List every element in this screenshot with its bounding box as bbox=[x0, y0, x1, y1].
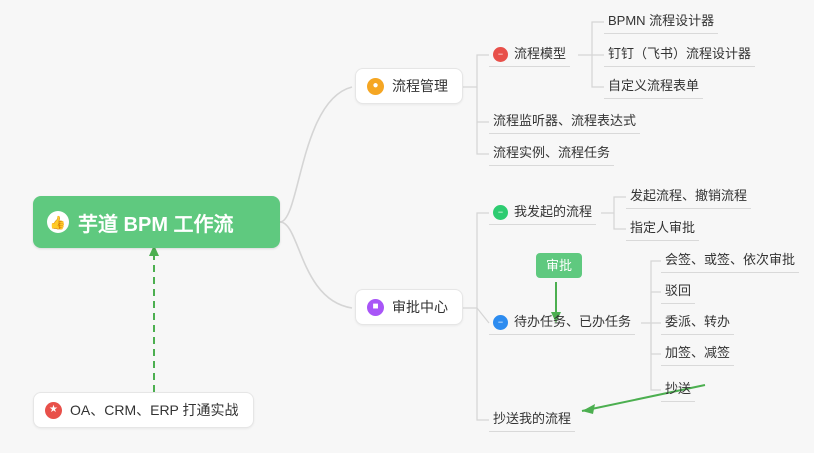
node-custom-form[interactable]: 自定义流程表单 bbox=[604, 78, 703, 99]
node-label: 加签、减签 bbox=[665, 345, 730, 361]
mindmap-canvas: 👍 芋道 BPM 工作流 ● 流程管理 − 流程模型 流程监听器、流程表达式 流… bbox=[0, 0, 814, 453]
node-add-remove-sign[interactable]: 加签、减签 bbox=[661, 345, 734, 366]
node-delegate-transfer[interactable]: 委派、转办 bbox=[661, 314, 734, 335]
node-label: 自定义流程表单 bbox=[608, 78, 699, 94]
node-label: 流程监听器、流程表达式 bbox=[493, 113, 636, 129]
node-label: 会签、或签、依次审批 bbox=[665, 252, 795, 268]
node-process-listener[interactable]: 流程监听器、流程表达式 bbox=[489, 113, 640, 134]
annotation-label: 审批 bbox=[546, 258, 572, 273]
minus-circle-icon: − bbox=[493, 47, 508, 62]
branch-node-approval-center[interactable]: ■ 审批中心 bbox=[355, 289, 463, 325]
node-label: 我发起的流程 bbox=[514, 204, 592, 220]
node-label: 驳回 bbox=[665, 283, 691, 299]
root-node[interactable]: 👍 芋道 BPM 工作流 bbox=[33, 196, 280, 248]
branch-label: 审批中心 bbox=[392, 297, 448, 317]
node-cc-to-me[interactable]: 抄送我的流程 bbox=[489, 411, 575, 432]
node-label: 钉钉（飞书）流程设计器 bbox=[608, 46, 751, 62]
node-todo-done-tasks[interactable]: − 待办任务、已办任务 bbox=[489, 314, 635, 335]
node-label: BPMN 流程设计器 bbox=[608, 13, 714, 29]
node-process-instance[interactable]: 流程实例、流程任务 bbox=[489, 145, 614, 166]
minus-circle-icon: − bbox=[493, 315, 508, 330]
node-process-model[interactable]: − 流程模型 bbox=[489, 46, 570, 67]
message-square-icon: ■ bbox=[367, 299, 384, 316]
thumbs-up-icon: 👍 bbox=[47, 211, 69, 233]
branch-node-process-management[interactable]: ● 流程管理 bbox=[355, 68, 463, 104]
node-label: 流程模型 bbox=[514, 46, 566, 62]
annotation-label: OA、CRM、ERP 打通实战 bbox=[70, 400, 239, 420]
node-label: 发起流程、撤销流程 bbox=[630, 188, 747, 204]
node-label: 待办任务、已办任务 bbox=[514, 314, 631, 330]
node-cc[interactable]: 抄送 bbox=[661, 381, 695, 402]
node-label: 抄送 bbox=[665, 381, 691, 397]
annotation-oa-crm-erp[interactable]: ★ OA、CRM、ERP 打通实战 bbox=[33, 392, 254, 428]
node-label: 指定人审批 bbox=[630, 220, 695, 236]
star-icon: ★ bbox=[45, 402, 62, 419]
node-countersign[interactable]: 会签、或签、依次审批 bbox=[661, 252, 799, 273]
node-label: 委派、转办 bbox=[665, 314, 730, 330]
node-assign-approver[interactable]: 指定人审批 bbox=[626, 220, 699, 241]
annotation-approval-pill: 审批 bbox=[536, 253, 582, 278]
node-label: 抄送我的流程 bbox=[493, 411, 571, 427]
location-pin-icon: ● bbox=[367, 78, 384, 95]
node-label: 流程实例、流程任务 bbox=[493, 145, 610, 161]
root-node-label: 芋道 BPM 工作流 bbox=[78, 208, 234, 237]
node-reject[interactable]: 驳回 bbox=[661, 283, 695, 304]
node-my-initiated[interactable]: − 我发起的流程 bbox=[489, 204, 596, 225]
node-start-cancel-process[interactable]: 发起流程、撤销流程 bbox=[626, 188, 751, 209]
branch-label: 流程管理 bbox=[392, 76, 448, 96]
minus-circle-icon: − bbox=[493, 205, 508, 220]
node-dingtalk-designer[interactable]: 钉钉（飞书）流程设计器 bbox=[604, 46, 755, 67]
node-bpmn-designer[interactable]: BPMN 流程设计器 bbox=[604, 13, 718, 34]
